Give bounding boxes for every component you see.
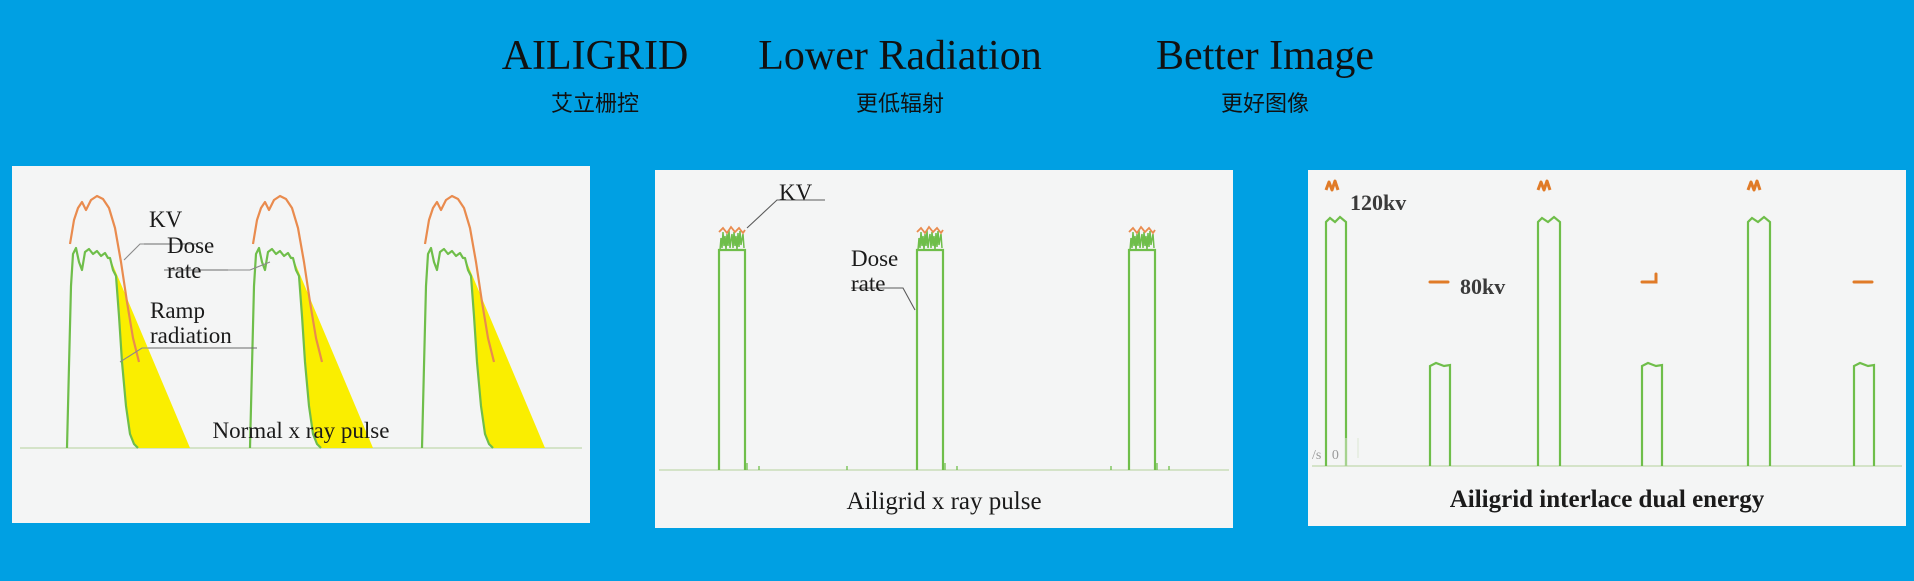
dose-rate-trace — [1748, 217, 1770, 466]
header-title-en: Lower Radiation — [690, 35, 1110, 77]
kv-120-label: 120kv — [1350, 190, 1406, 216]
pulse-120kv-1 — [1326, 217, 1346, 466]
pulse-80kv-1 — [1430, 363, 1450, 466]
y-axis-label: /s 0 — [1312, 448, 1339, 464]
chart-ailigrid-interlace-dual-energy — [1308, 170, 1906, 488]
kv-marker-80kv-icon — [1642, 274, 1656, 282]
dose-rate-trace — [1642, 363, 1662, 466]
panel-caption: Ailigrid interlace dual energy — [1308, 486, 1906, 514]
dose-rate-label: Dose rate — [851, 247, 898, 297]
pulse-120kv-3 — [1748, 217, 1770, 466]
chart-panel-ailigrid-pulse: KV Dose rate Ailigrid x ray pulse — [655, 170, 1233, 528]
kv-marker-120kv-icon — [1748, 181, 1760, 190]
dose-rate-trace — [1430, 363, 1450, 466]
pulse-group-2 — [250, 196, 373, 448]
dose-rate-noise-fringe — [720, 230, 744, 250]
dose-rate-noise-fringe — [1130, 230, 1154, 250]
kv-marker-120kv-icon — [1538, 181, 1550, 190]
chart-panel-ailigrid-dual-energy: 120kv 80kv /s 0 Ailigrid interlace dual … — [1308, 170, 1906, 526]
pulse-group-1 — [719, 227, 745, 470]
pulse-80kv-3 — [1854, 363, 1874, 466]
pulse-120kv-2 — [1538, 217, 1560, 466]
kv-label: KV — [779, 181, 812, 206]
chart-panel-normal-pulse: KV Dose rate Ramp radiation Normal x ray… — [12, 166, 590, 523]
pulse-group-3 — [422, 196, 545, 448]
ramp-radiation-label: Ramp radiation — [150, 299, 232, 349]
dose-rate-trace — [1326, 217, 1346, 466]
dose-rate-label: Dose rate — [167, 234, 214, 284]
pulse-group-2 — [917, 227, 943, 470]
header-column-better-image: Better Image 更好图像 — [1055, 35, 1475, 116]
kv-80-label: 80kv — [1460, 274, 1505, 300]
header-title-en: Better Image — [1055, 35, 1475, 77]
kv-marker-120kv-icon — [1326, 181, 1338, 190]
panel-caption: Normal x ray pulse — [12, 418, 590, 444]
dose-rate-trace — [719, 250, 745, 470]
dose-rate-trace — [917, 250, 943, 470]
kv-leader-line — [124, 244, 162, 260]
kv-label: KV — [149, 208, 182, 233]
dose-rate-noise-fringe — [918, 230, 942, 250]
pulse-80kv-2 — [1642, 363, 1662, 466]
dose-rate-trace — [1129, 250, 1155, 470]
panel-caption: Ailigrid x ray pulse — [655, 488, 1233, 516]
header-column-lower-radiation: Lower Radiation 更低辐射 — [690, 35, 1110, 116]
dose-rate-trace — [1854, 363, 1874, 466]
chart-ailigrid-x-ray-pulse — [655, 170, 1233, 490]
dose-rate-trace — [1538, 217, 1560, 466]
origin-grid — [1346, 438, 1358, 466]
baseline-ticks — [747, 463, 1169, 470]
pulse-group-3 — [1129, 227, 1155, 470]
header-banner: AILIGRID 艾立栅控 Lower Radiation 更低辐射 Bette… — [0, 0, 1914, 155]
kv-marker-120kv-group — [1326, 181, 1760, 190]
header-title-cn: 更低辐射 — [690, 94, 1110, 116]
header-title-cn: 更好图像 — [1055, 94, 1475, 116]
